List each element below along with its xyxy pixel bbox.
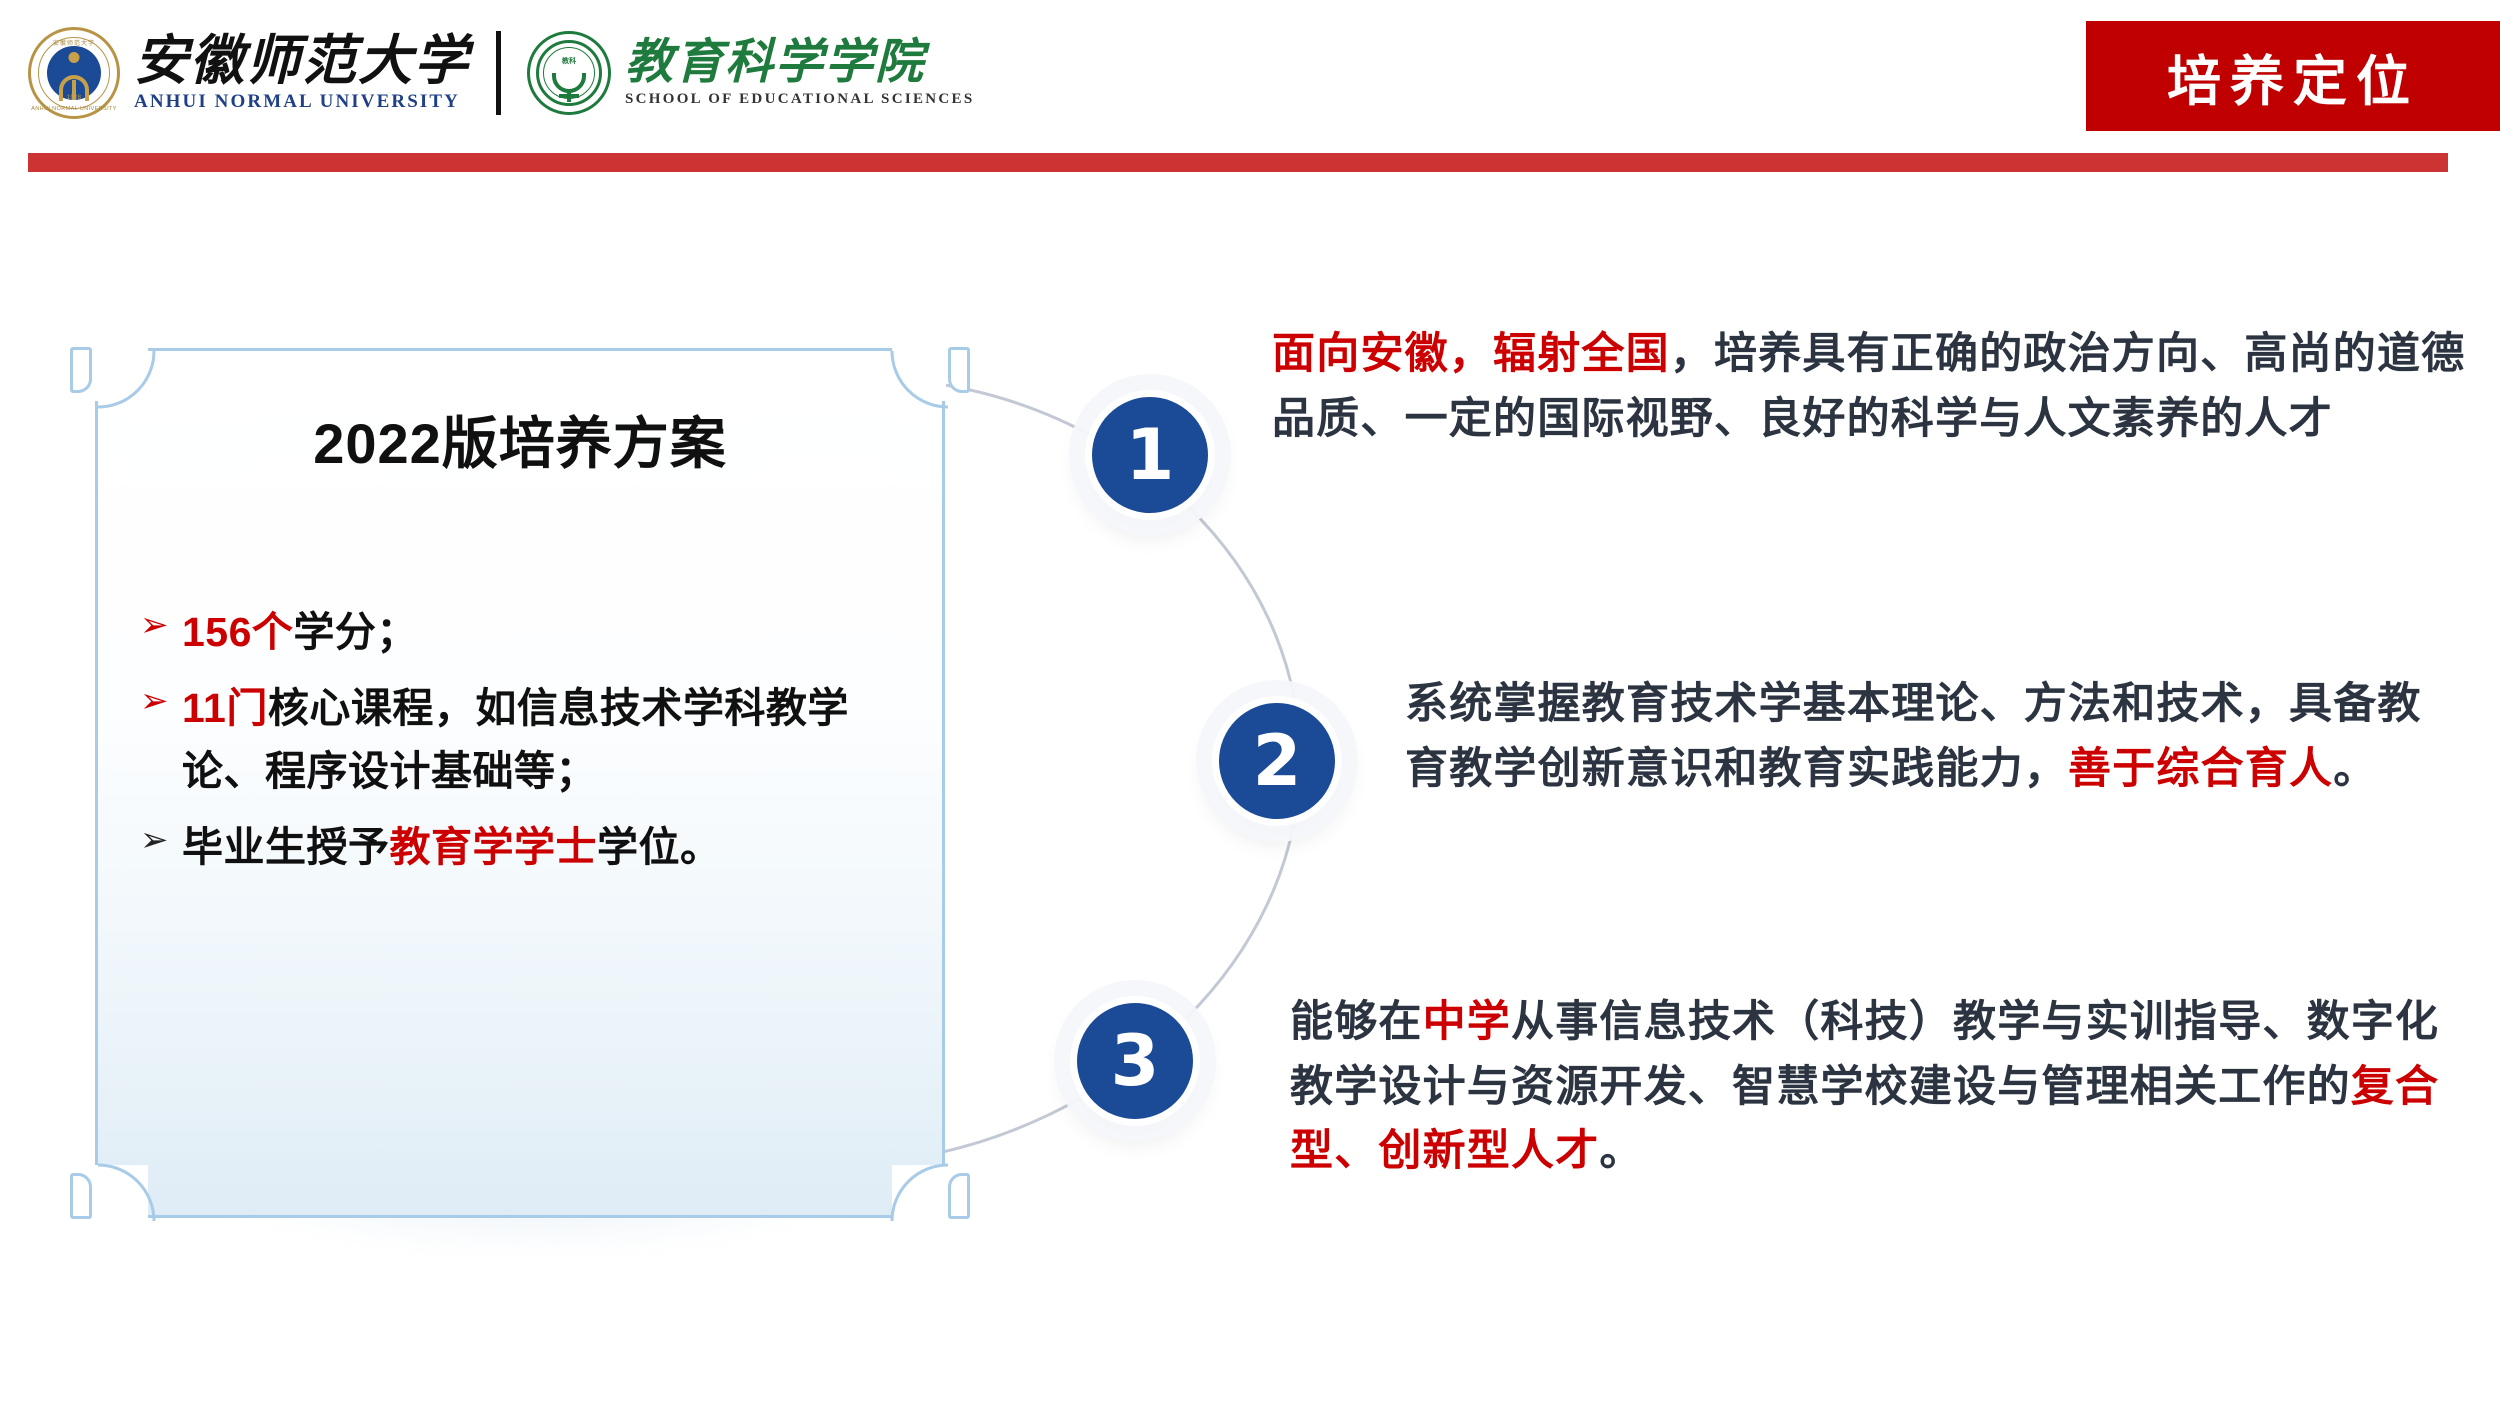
logo-divider [496,31,501,115]
school-name-cn: 教育科学学院 [625,38,974,88]
bullet-arrow-icon: ➢ [140,816,182,864]
card-bullet-list: ➢156个学分；➢11门核心课程，如信息技术学科教学论、程序设计基础等；➢毕业生… [140,601,902,892]
objective-text-3: 能够在中学从事信息技术（科技）教学与实训指导、数字化教学设计与资源开发、智慧学校… [1290,990,2480,1184]
step-number-circle-3[interactable]: 3 [1070,996,1200,1126]
text-run: 善于综合育人 [2068,745,2333,793]
seal-dot [69,52,80,63]
page-header: 安徽师范大学 1928 ANHUI NORMAL UNIVERSITY 安徽师范… [0,0,2500,200]
bullet-text: 11门核心课程，如信息技术学科教学论、程序设计基础等； [182,677,902,802]
card-flap-bottom-left [70,1173,92,1219]
objective-text-2: 系统掌握教育技术学基本理论、方法和技术，具备教育教学创新意识和教育实践能力，善于… [1405,672,2465,801]
bullet-text: 毕业生授予教育学学士学位。 [182,816,722,878]
page-title: 培养定位 [2167,37,2419,116]
anhui-normal-university-seal-icon: 安徽师范大学 1928 ANHUI NORMAL UNIVERSITY [28,27,120,119]
card-bullet-item: ➢156个学分； [140,601,902,663]
card-bullet-item: ➢11门核心课程，如信息技术学科教学论、程序设计基础等； [140,677,902,802]
bullet-arrow-icon: ➢ [140,677,182,725]
text-run: 11门 [182,685,268,731]
card-body: 2022版培养方案 ➢156个学分；➢11门核心课程，如信息技术学科教学论、程序… [95,348,945,1218]
school-seal-base [559,94,579,98]
bullet-text: 156个学分； [182,601,418,663]
text-run: 156个 [182,609,293,655]
school-name-en: SCHOOL OF EDUCATIONAL SCIENCES [625,91,974,108]
header-divider-rule [28,153,2448,172]
training-plan-card: 2022版培养方案 ➢156个学分；➢11门核心课程，如信息技术学科教学论、程序… [95,348,975,1308]
university-name-block: 安徽师范大学 ANHUI NORMAL UNIVERSITY [134,33,470,114]
text-run: 学分； [293,609,418,655]
bullet-arrow-icon: ➢ [140,601,182,649]
step-number-circle-2[interactable]: 2 [1212,696,1342,826]
text-run: 面向安徽，辐射全国 [1272,330,1670,378]
university-name-cn: 安徽师范大学 [134,33,470,90]
school-of-educational-sciences-seal-icon: 教科 [527,31,611,115]
text-run: 中学 [1423,998,1511,1046]
text-run: 能够在 [1290,998,1423,1046]
card-bullet-item: ➢毕业生授予教育学学士学位。 [140,816,902,878]
card-title: 2022版培养方案 [98,399,942,480]
logo-group: 安徽师范大学 1928 ANHUI NORMAL UNIVERSITY 安徽师范… [28,18,974,128]
card-flap-top-right [948,347,970,393]
seal-arc-bottom-text: ANHUI NORMAL UNIVERSITY [31,106,117,112]
text-run: 教育学学士 [390,824,598,870]
text-run: 学位。 [597,824,722,870]
card-flap-top-left [70,347,92,393]
objective-text-1: 面向安徽，辐射全国，培养具有正确的政治方向、高尚的道德品质、一定的国际视野、良好… [1272,322,2472,451]
text-run: 核心课程，如信息技术学科教学论、程序设计基础等； [182,685,849,793]
slide-title-banner: 培养定位 [2086,21,2500,131]
seal-year: 1928 [31,95,117,101]
text-run: 毕业生授予 [182,824,390,870]
university-name-en: ANHUI NORMAL UNIVERSITY [134,91,470,113]
text-run: 。 [1599,1127,1643,1175]
text-run: 。 [2333,745,2377,793]
step-number-circle-1[interactable]: 1 [1085,390,1215,520]
school-name-block: 教育科学学院 SCHOOL OF EDUCATIONAL SCIENCES [625,38,974,108]
school-seal-center-text: 教科 [530,56,608,66]
card-flap-bottom-right [948,1173,970,1219]
